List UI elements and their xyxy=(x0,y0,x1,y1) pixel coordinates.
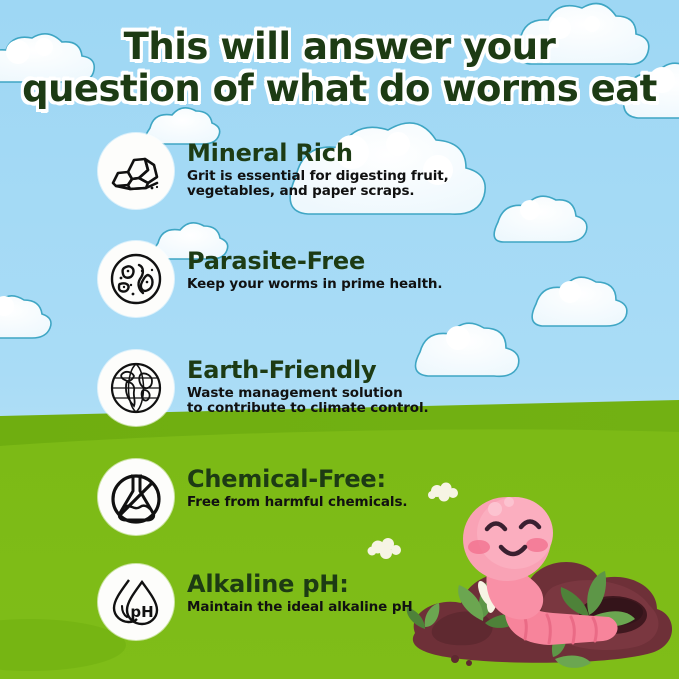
ph-water-droplet-icon: pH xyxy=(98,564,174,640)
feature-title: Parasite-Free xyxy=(187,249,442,273)
feature-description: Keep your worms in prime health. xyxy=(187,277,442,292)
feature-title: Chemical-Free: xyxy=(187,467,407,491)
soil-crumb xyxy=(451,655,459,663)
feature-row-chemical-free: Chemical-Free: Free from harmful chemica… xyxy=(98,459,407,535)
no-flask-chemical-icon xyxy=(98,459,174,535)
feature-row-alkaline-ph: pH Alkaline pH: Maintain the ideal alkal… xyxy=(98,564,413,640)
worm-blush-left xyxy=(468,540,490,554)
feature-text: Earth-Friendly Waste management solution… xyxy=(187,350,429,416)
worm-head-highlight xyxy=(488,502,502,516)
petri-dish-bacteria-icon xyxy=(98,241,174,317)
feature-description: Maintain the ideal alkaline pH xyxy=(187,600,413,615)
worm-illustration xyxy=(403,447,679,679)
feature-text: Parasite-Free Keep your worms in prime h… xyxy=(187,241,442,292)
title-line-2: question of what do worms eat xyxy=(12,68,667,110)
feature-description: Waste management solution to contribute … xyxy=(187,386,429,416)
feature-title: Mineral Rich xyxy=(187,141,449,165)
poster-title: This will answer your question of what d… xyxy=(0,26,679,110)
svg-text:pH: pH xyxy=(130,603,153,621)
feature-description: Grit is essential for digesting fruit, v… xyxy=(187,169,449,199)
infographic-poster: This will answer your question of what d… xyxy=(0,0,679,679)
feature-text: Alkaline pH: Maintain the ideal alkaline… xyxy=(187,564,413,615)
feature-row-parasite-free: Parasite-Free Keep your worms in prime h… xyxy=(98,241,442,317)
title-line-1: This will answer your xyxy=(12,26,667,68)
feature-row-mineral-rich: Mineral Rich Grit is essential for diges… xyxy=(98,133,449,209)
feature-text: Chemical-Free: Free from harmful chemica… xyxy=(187,459,407,510)
soil-crumb xyxy=(466,660,472,666)
globe-earth-icon xyxy=(98,350,174,426)
feature-title: Earth-Friendly xyxy=(187,358,429,382)
worm-blush-right xyxy=(526,538,548,552)
minerals-rocks-icon xyxy=(98,133,174,209)
worm-head-highlight xyxy=(504,497,514,507)
feature-description: Free from harmful chemicals. xyxy=(187,495,407,510)
feature-text: Mineral Rich Grit is essential for diges… xyxy=(187,133,449,199)
feature-title: Alkaline pH: xyxy=(187,572,413,596)
feature-row-earth-friendly: Earth-Friendly Waste management solution… xyxy=(98,350,429,426)
